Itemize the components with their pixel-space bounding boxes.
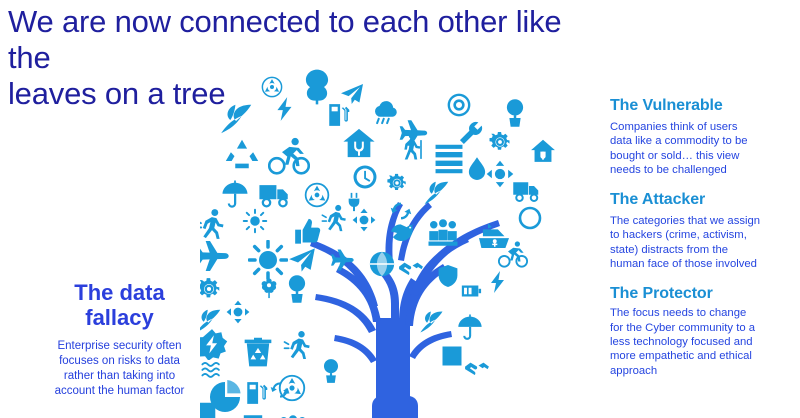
power-plug-icon xyxy=(349,193,360,211)
globe-icon xyxy=(370,252,394,276)
thumbs-up-icon xyxy=(295,219,320,244)
hiker-icon xyxy=(404,133,421,160)
body-the-protector: The focus needs to change for the Cyber … xyxy=(610,306,796,377)
house-plug-icon xyxy=(343,129,374,157)
box-icon xyxy=(443,347,462,366)
airplane-icon xyxy=(200,241,229,271)
heading-the-vulnerable: The Vulnerable xyxy=(610,96,796,116)
water-drop-icon xyxy=(469,157,485,180)
battery-icon xyxy=(462,286,481,297)
radiation-icon xyxy=(262,77,281,96)
sun-icon xyxy=(244,210,267,233)
leaf-branch-icon xyxy=(221,105,251,134)
gear-ring-icon xyxy=(448,94,471,117)
handshake-icon xyxy=(399,263,423,275)
shield-icon xyxy=(439,265,458,287)
potted-tree-icon xyxy=(507,99,523,127)
potted-tree-icon xyxy=(289,275,305,303)
runner-icon xyxy=(285,331,310,359)
flower-icon xyxy=(262,278,277,298)
cyclist-icon xyxy=(269,138,309,173)
text-block-protector: The Protector The focus needs to change … xyxy=(610,284,796,377)
lightning-bolt-icon xyxy=(277,97,291,121)
runner-icon xyxy=(200,209,223,239)
runner-icon xyxy=(322,205,345,231)
recycle-icon xyxy=(226,139,259,169)
move-arrows-icon xyxy=(487,161,514,188)
delivery-truck-icon xyxy=(259,185,287,206)
rain-cloud-icon xyxy=(375,101,397,123)
recycling-bin-icon xyxy=(245,338,272,367)
right-text-column: The Vulnerable Companies think of users … xyxy=(610,96,796,389)
paper-plane-icon xyxy=(289,248,315,271)
potted-tree-icon xyxy=(324,359,338,383)
delivery-truck-icon xyxy=(513,182,538,201)
body-the-vulnerable: Companies think of users data like a com… xyxy=(610,120,796,177)
left-column-heading: The data fallacy xyxy=(22,280,217,330)
slide-canvas: We are now connected to each other like … xyxy=(0,0,800,418)
umbrella-icon xyxy=(458,314,481,339)
group-of-people-icon xyxy=(429,219,458,246)
fuel-pump-icon xyxy=(247,382,267,404)
box-icon xyxy=(200,403,215,418)
heading-the-attacker: The Attacker xyxy=(610,190,796,210)
radiation-icon xyxy=(306,184,329,207)
move-arrows-icon xyxy=(227,301,250,324)
gear-icon xyxy=(490,132,510,150)
tree-of-icons-illustration xyxy=(200,68,605,418)
fuel-pump-icon xyxy=(329,104,349,126)
sun-icon xyxy=(249,241,286,278)
heading-the-protector: The Protector xyxy=(610,284,796,304)
gear-icon xyxy=(387,174,405,190)
lightning-bolt-icon xyxy=(491,271,504,293)
leaf-icon xyxy=(425,182,449,205)
umbrella-icon xyxy=(223,181,248,208)
text-block-attacker: The Attacker The categories that we assi… xyxy=(610,190,796,271)
tree-icon xyxy=(306,70,328,105)
body-the-attacker: The categories that we assign to hackers… xyxy=(610,214,796,271)
text-block-vulnerable: The Vulnerable Companies think of users … xyxy=(610,96,796,177)
home-icon xyxy=(531,140,555,162)
left-column-body: Enterprise security often focuses on ris… xyxy=(22,339,217,399)
wrench-icon xyxy=(460,122,482,144)
move-arrows-icon xyxy=(353,209,376,232)
left-text-column: The data fallacy Enterprise security oft… xyxy=(22,280,217,399)
oil-barrel-icon xyxy=(432,145,466,174)
handshake-icon xyxy=(465,363,489,375)
dove-icon xyxy=(391,224,415,241)
clock-gear-icon xyxy=(354,166,377,189)
paper-plane-icon xyxy=(341,84,363,104)
ring-icon xyxy=(520,208,540,228)
leaf-icon xyxy=(420,312,442,333)
